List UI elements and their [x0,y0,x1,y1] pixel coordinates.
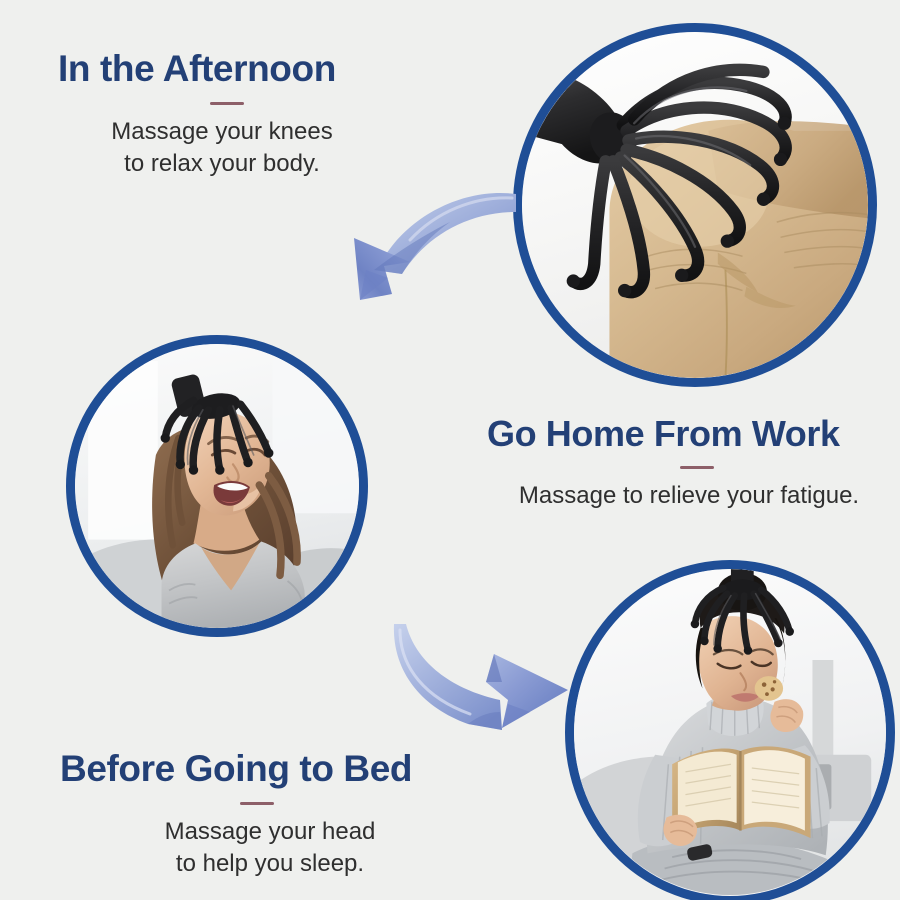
arrow-laugh-to-read-icon [390,620,580,745]
photo-woman-laughing-image [75,344,359,628]
section-work-text: Go Home From Work Massage to relieve you… [487,415,891,512]
photo-woman-laughing [66,335,368,637]
section-work-subtitle: Massage to relieve your fatigue. [487,480,891,512]
arrow-afternoon-to-laugh-icon [344,178,524,308]
photo-knee-massage-image [522,32,868,378]
section-afternoon-text: In the Afternoon Massage your knees to r… [58,50,386,180]
section-afternoon-subtitle: Massage your knees to relax your body. [58,116,386,180]
section-bed-heading: Before Going to Bed [60,750,480,789]
section-afternoon-heading: In the Afternoon [58,50,386,89]
section-afternoon-divider [210,102,244,105]
section-work-heading: Go Home From Work [487,415,891,453]
section-bed-text: Before Going to Bed Massage your head to… [60,750,480,880]
photo-woman-reading-image [574,569,886,896]
photo-woman-reading [565,560,895,900]
section-bed-divider [240,802,274,805]
section-bed-subtitle: Massage your head to help you sleep. [60,816,480,880]
section-work-divider [680,466,714,469]
infographic-canvas: In the Afternoon Massage your knees to r… [0,0,900,900]
photo-knee-massage [513,23,877,387]
